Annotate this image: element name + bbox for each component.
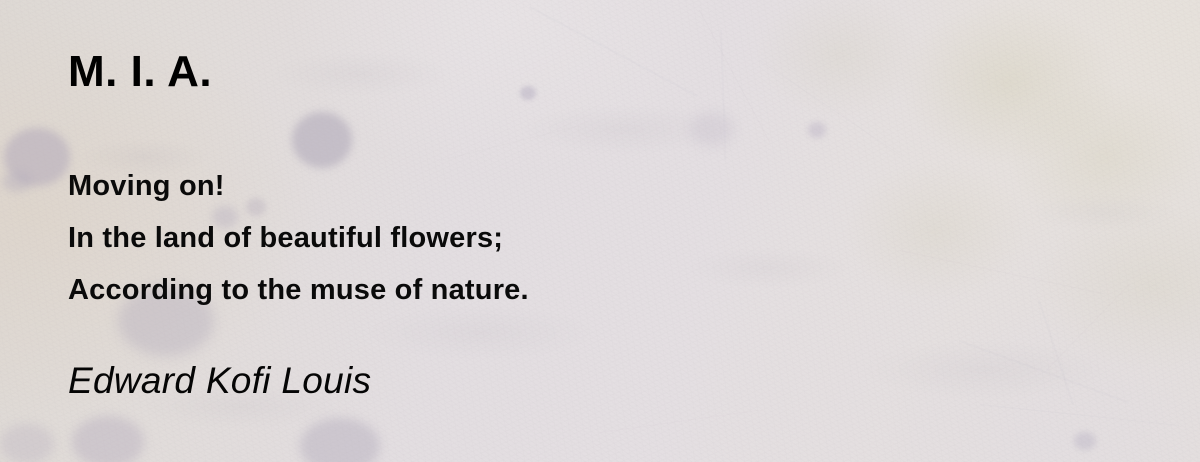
poem-line: Moving on! (68, 160, 529, 212)
poem-title: M. I. A. (68, 50, 212, 94)
poem-content: M. I. A. Moving on! In the land of beaut… (0, 0, 1200, 462)
poem-body: Moving on! In the land of beautiful flow… (68, 160, 529, 316)
poem-card: M. I. A. Moving on! In the land of beaut… (0, 0, 1200, 462)
poem-line: In the land of beautiful flowers; (68, 212, 529, 264)
poem-line: According to the muse of nature. (68, 264, 529, 316)
poem-author: Edward Kofi Louis (68, 362, 371, 399)
